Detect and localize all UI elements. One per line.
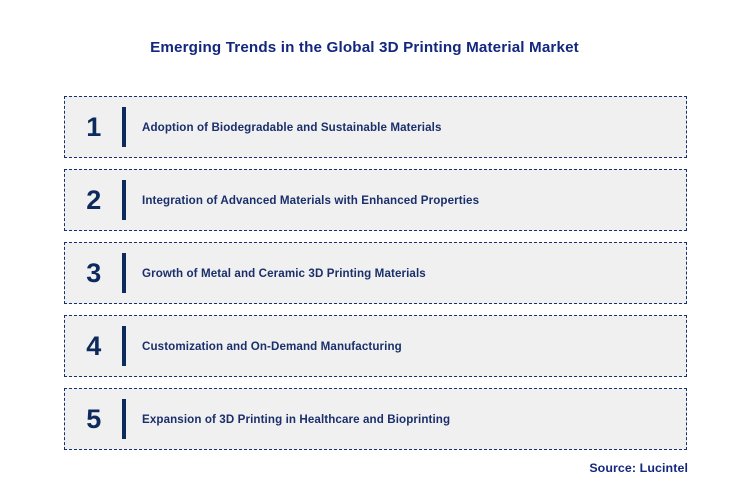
trend-label: Adoption of Biodegradable and Sustainabl… <box>126 120 686 135</box>
trend-label: Growth of Metal and Ceramic 3D Printing … <box>126 266 686 281</box>
trend-number: 5 <box>65 404 122 434</box>
trend-row: 5 Expansion of 3D Printing in Healthcare… <box>64 388 687 450</box>
source-attribution: Source: Lucintel <box>589 461 688 475</box>
trend-label: Integration of Advanced Materials with E… <box>126 193 686 208</box>
trend-row: 4 Customization and On-Demand Manufactur… <box>64 315 687 377</box>
trend-number: 2 <box>65 185 122 215</box>
trend-row: 1 Adoption of Biodegradable and Sustaina… <box>64 96 687 158</box>
trend-label: Expansion of 3D Printing in Healthcare a… <box>126 412 686 427</box>
trend-list: 1 Adoption of Biodegradable and Sustaina… <box>64 96 687 450</box>
infographic-page: Emerging Trends in the Global 3D Printin… <box>0 0 729 498</box>
trend-row: 2 Integration of Advanced Materials with… <box>64 169 687 231</box>
trend-label: Customization and On-Demand Manufacturin… <box>126 339 686 354</box>
trend-number: 3 <box>65 258 122 288</box>
trend-number: 1 <box>65 112 122 142</box>
page-title: Emerging Trends in the Global 3D Printin… <box>0 38 729 58</box>
trend-number: 4 <box>65 331 122 361</box>
trend-row: 3 Growth of Metal and Ceramic 3D Printin… <box>64 242 687 304</box>
